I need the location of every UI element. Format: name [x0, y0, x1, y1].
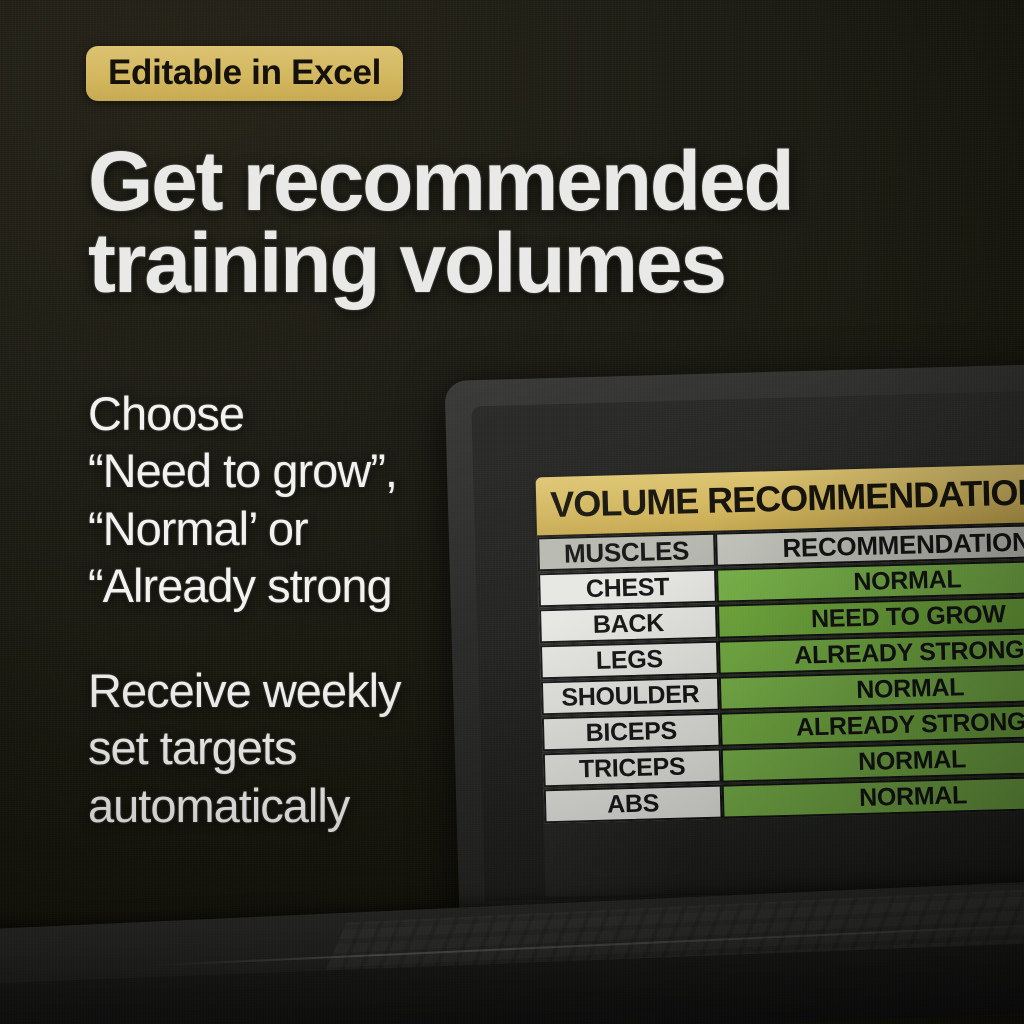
page-title: Get recommended training volumes — [88, 140, 918, 305]
volume-recommendation-table[interactable]: VOLUME RECOMMENDATION MUSCLES RECOMMENDA… — [536, 463, 1024, 824]
cell-muscle: TRICEPS — [543, 749, 722, 788]
cell-muscle: SHOULDER — [541, 677, 720, 716]
cell-muscle: BICEPS — [542, 713, 721, 752]
cell-muscle: LEGS — [540, 641, 719, 680]
keyboard-keys — [315, 888, 1024, 997]
cell-muscle: BACK — [539, 605, 718, 644]
cell-muscle: ABS — [544, 785, 723, 824]
deck-front-edge — [150, 924, 1024, 967]
promo-graphic: VOLUME RECOMMENDATION MUSCLES RECOMMENDA… — [0, 0, 1024, 1024]
copy-paragraph-receive: Receive weekly set targets automatically — [88, 662, 488, 834]
copy-paragraph-choose: Choose “Need to grow”, “Normal’ or “Alre… — [88, 385, 508, 614]
laptop-base-shadow — [0, 940, 1024, 1024]
table-title: VOLUME RECOMMENDATION — [536, 463, 1024, 536]
column-header-muscles: MUSCLES — [537, 533, 716, 572]
editable-in-excel-badge: Editable in Excel — [86, 46, 403, 101]
laptop-base-deck — [0, 879, 1024, 1024]
cell-muscle: CHEST — [538, 569, 717, 608]
